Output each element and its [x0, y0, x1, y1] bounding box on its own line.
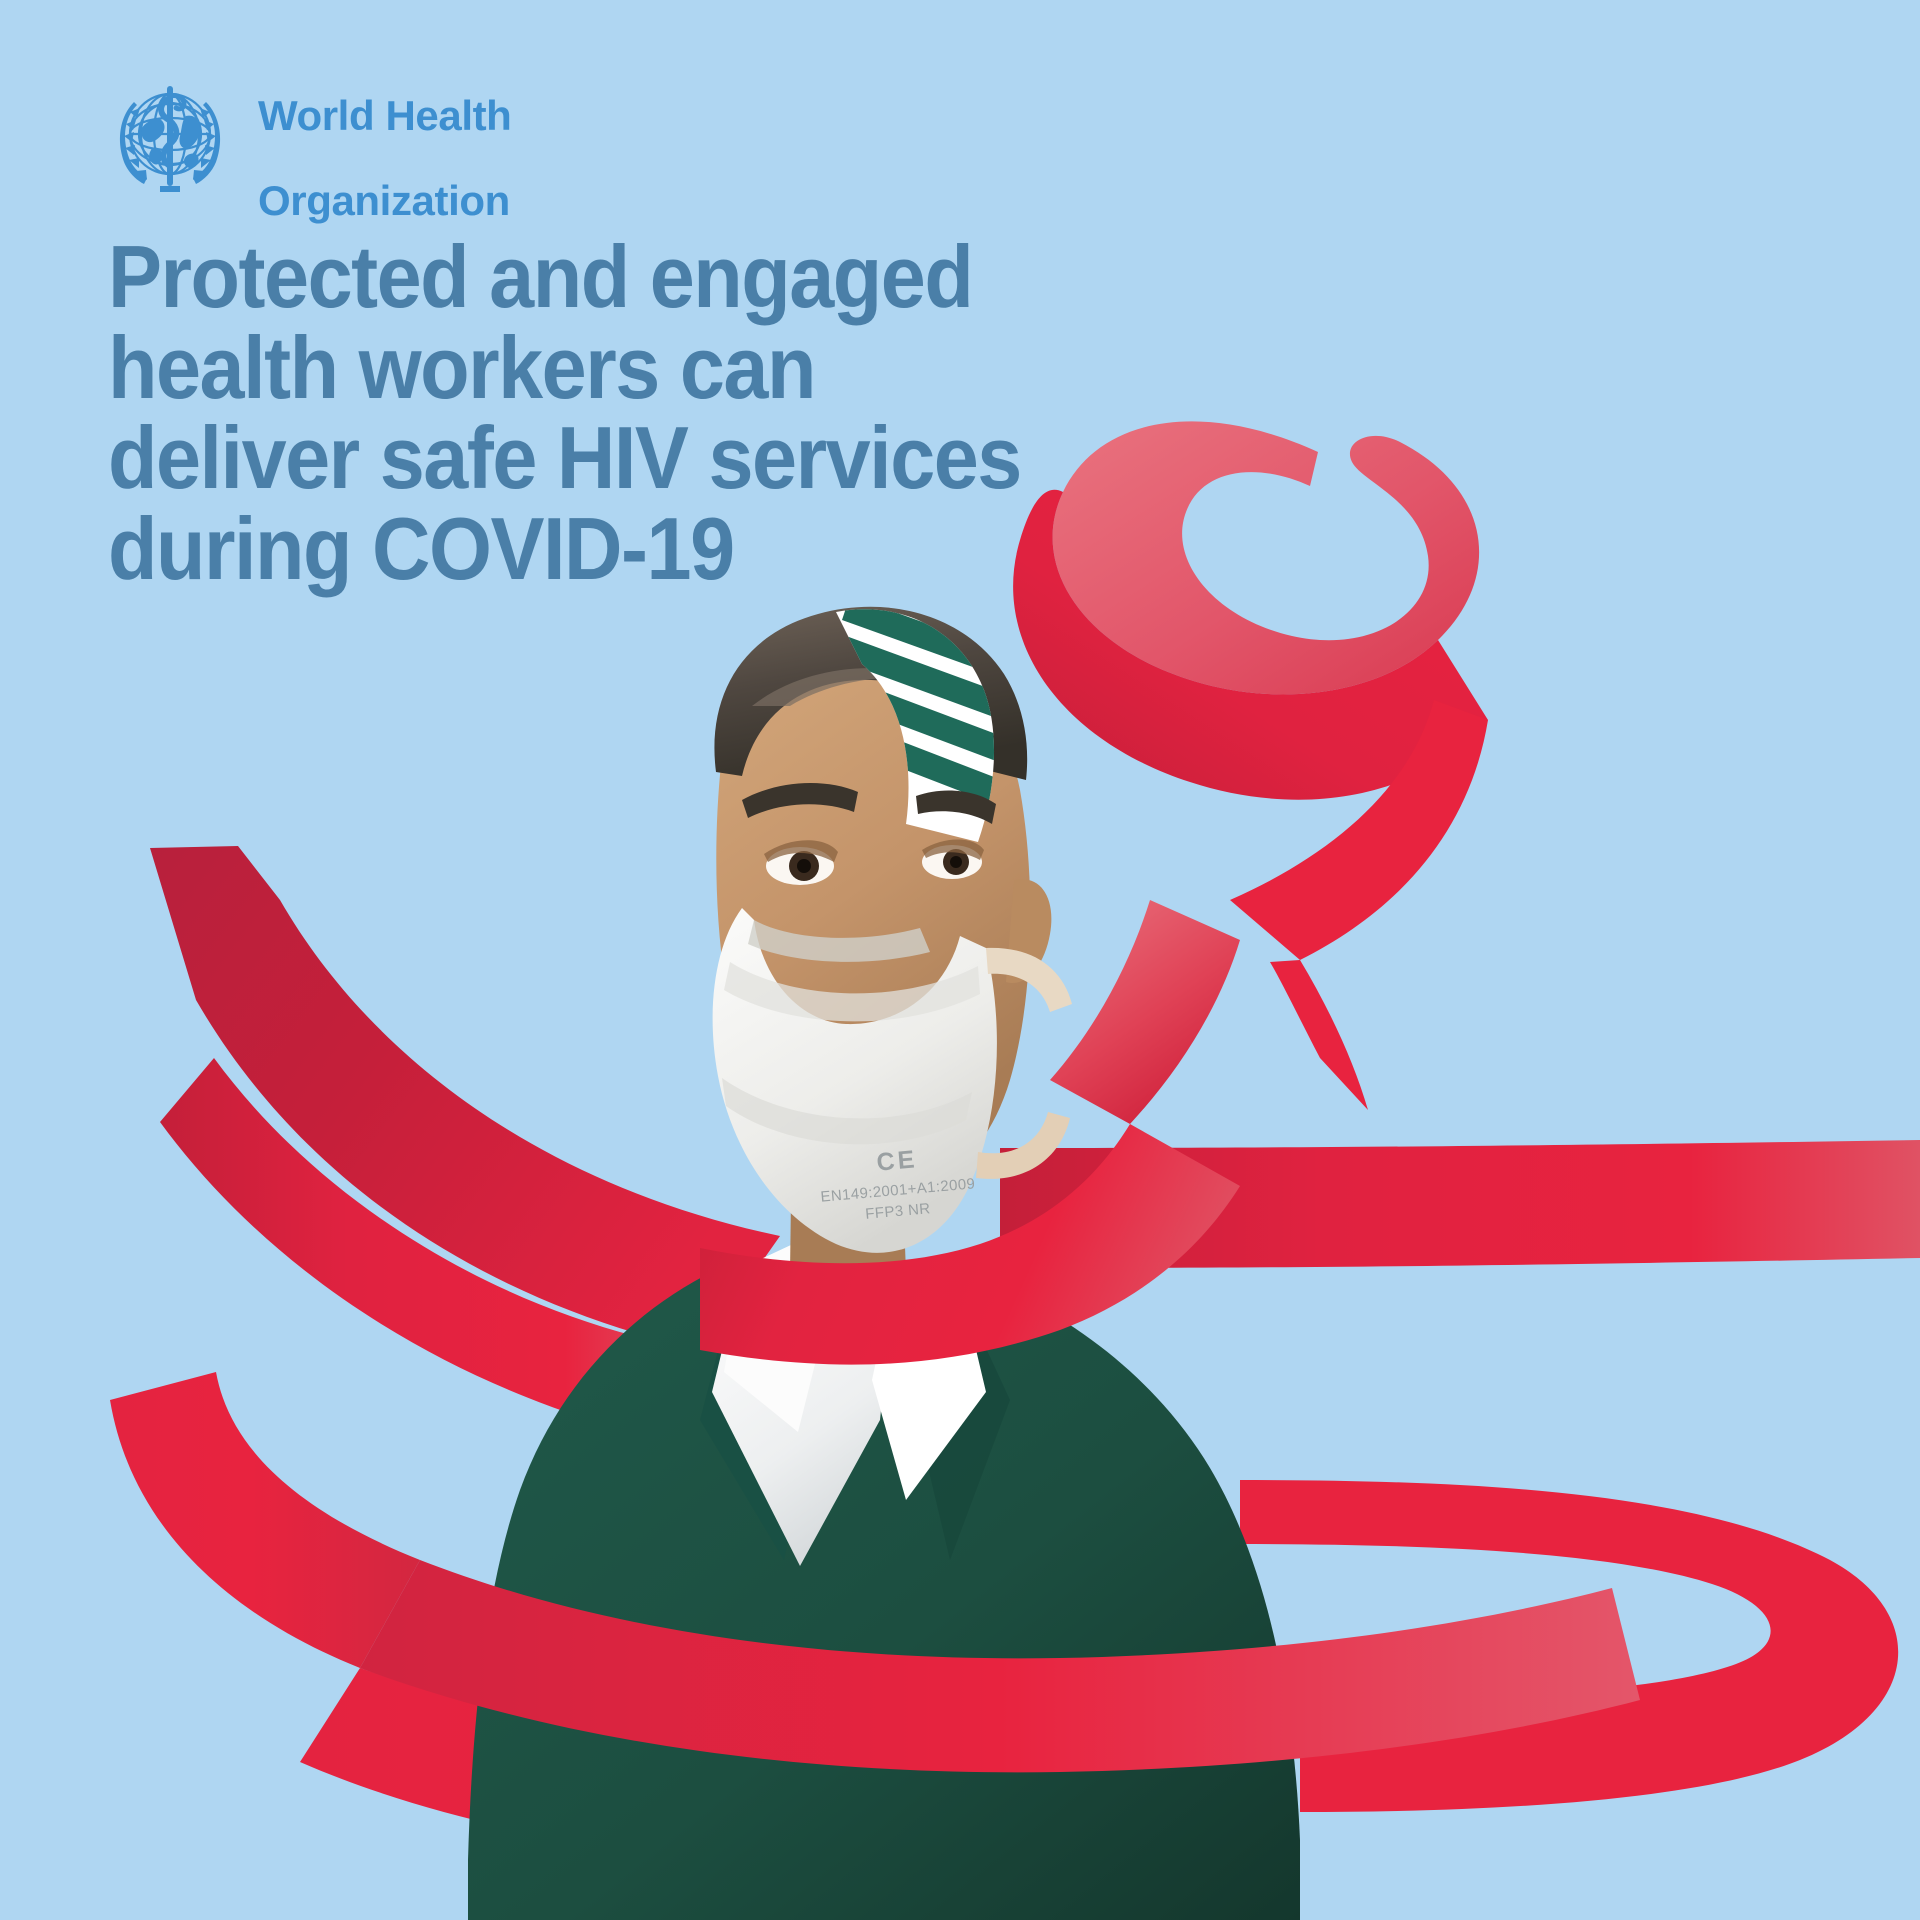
headline-line-2: health workers can: [108, 323, 1028, 414]
who-hiv-covid-poster: CE EN149:2001+A1:2009 FFP3 NR: [0, 0, 1920, 1920]
headline-line-4: during COVID-19: [108, 504, 1028, 595]
ribbon-front-chest-band: [700, 1124, 1240, 1365]
headline-line-1: Protected and engaged: [108, 232, 1028, 323]
ribbon-front-twist: [1050, 900, 1240, 1124]
who-wordmark-line1: World Health: [258, 92, 511, 139]
headline: Protected and engaged health workers can…: [108, 232, 1028, 595]
ribbon-front-lower-band: [360, 1560, 1640, 1772]
who-wordmark: World Health Organization: [258, 52, 511, 223]
who-emblem: [104, 72, 236, 204]
who-logo: World Health Organization: [104, 52, 511, 223]
ribbon-front-point-tail: [1270, 960, 1368, 1110]
headline-line-3: deliver safe HIV services: [108, 413, 1028, 504]
who-wordmark-line2: Organization: [258, 177, 510, 224]
